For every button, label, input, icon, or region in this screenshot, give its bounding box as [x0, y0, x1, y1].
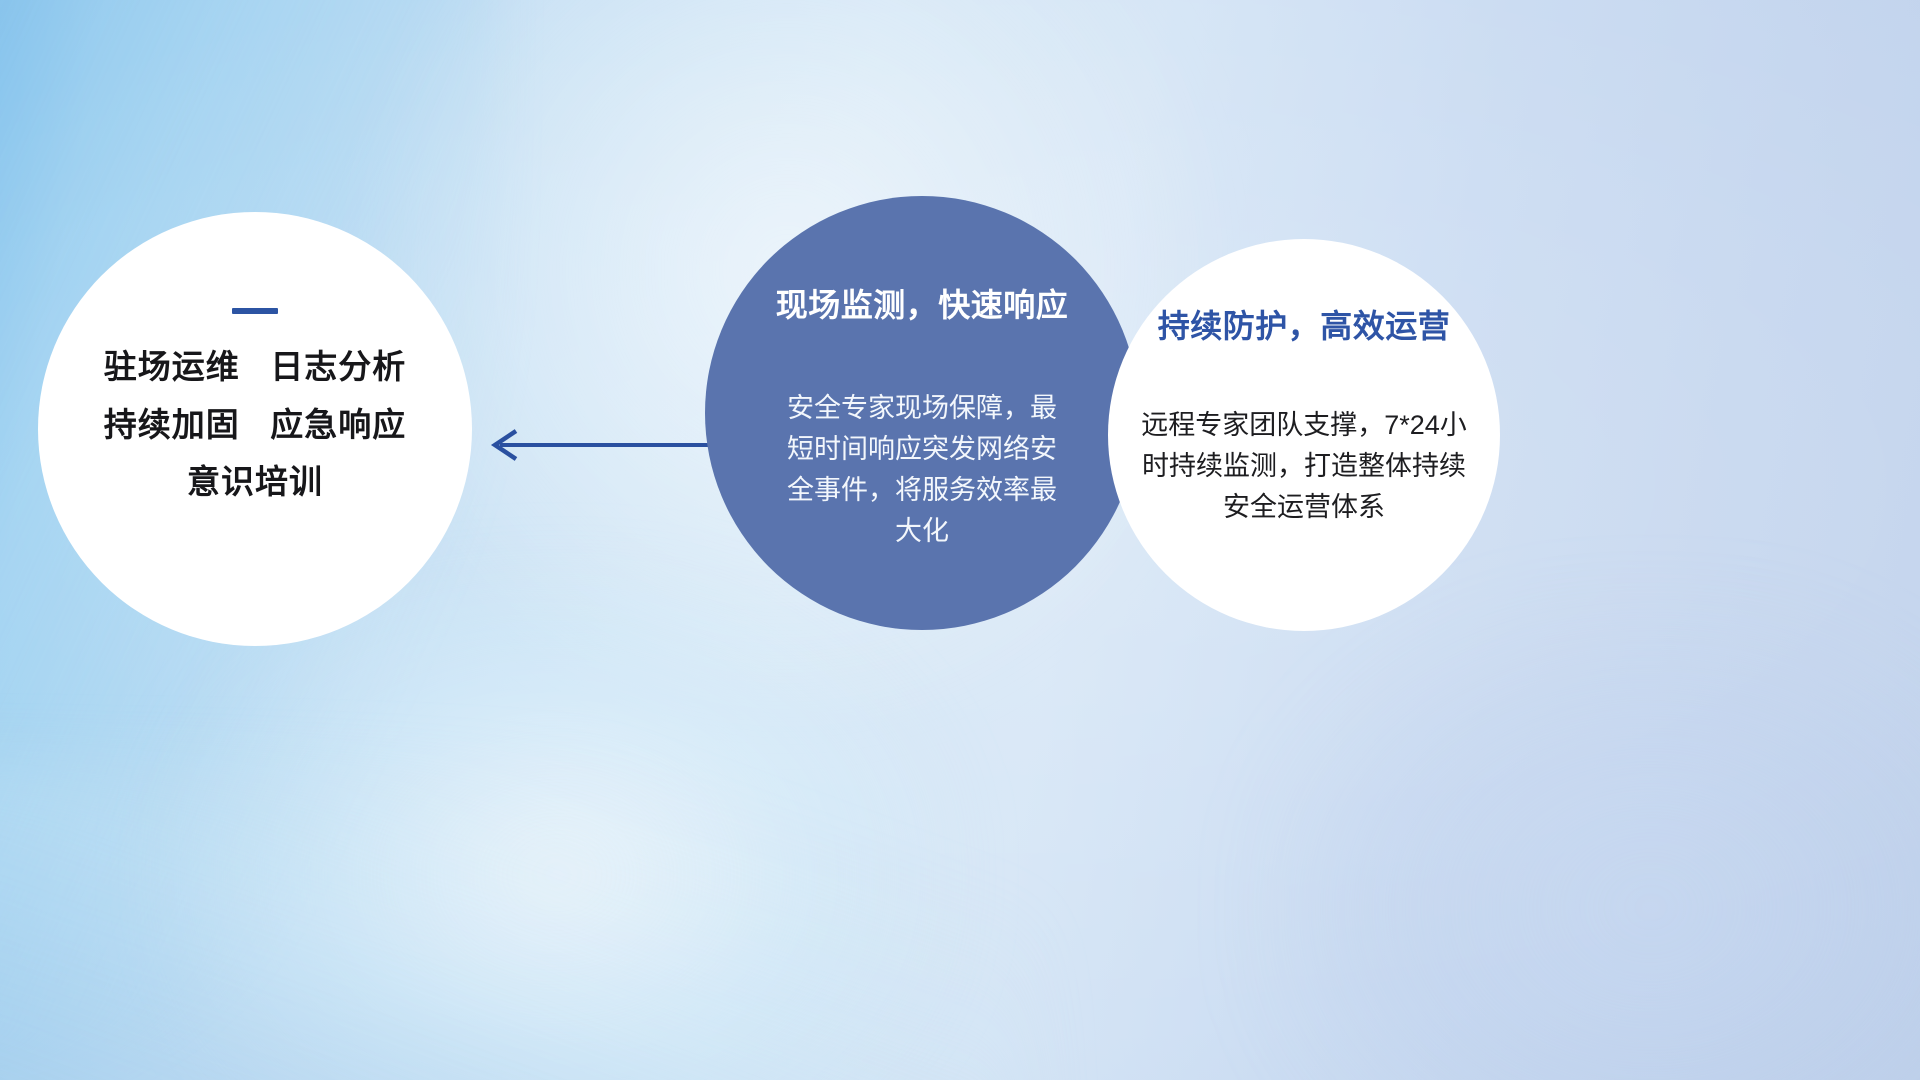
node-continuous-operations[interactable]: 持续防护，高效运营 远程专家团队支撑，7*24小时持续监测，打造整体持续安全运营… [1108, 239, 1500, 631]
node-heading: 持续防护，高效运营 [1158, 301, 1451, 347]
node-body-text: 安全专家现场保障，最短时间响应突发网络安全事件，将服务效率最大化 [777, 388, 1067, 552]
node-capabilities[interactable]: 驻场运维 日志分析 持续加固 应急响应 意识培训 [38, 212, 472, 646]
node-onsite-monitoring[interactable]: 现场监测，快速响应 安全专家现场保障，最短时间响应突发网络安全事件，将服务效率最… [705, 196, 1139, 630]
capabilities-list: 驻场运维 日志分析 持续加固 应急响应 意识培训 [104, 350, 407, 500]
list-item: 持续加固 应急响应 [104, 408, 407, 443]
node-heading: 现场监测，快速响应 [776, 280, 1069, 326]
slide-canvas: 驻场运维 日志分析 持续加固 应急响应 意识培训 现场监测，快速响应 安全专家现… [0, 0, 1920, 1080]
accent-dash-icon [232, 308, 278, 314]
list-item: 驻场运维 日志分析 [104, 350, 407, 385]
list-item: 意识培训 [187, 465, 323, 500]
node-body-text: 远程专家团队支撑，7*24小时持续监测，打造整体持续安全运营体系 [1139, 405, 1469, 528]
